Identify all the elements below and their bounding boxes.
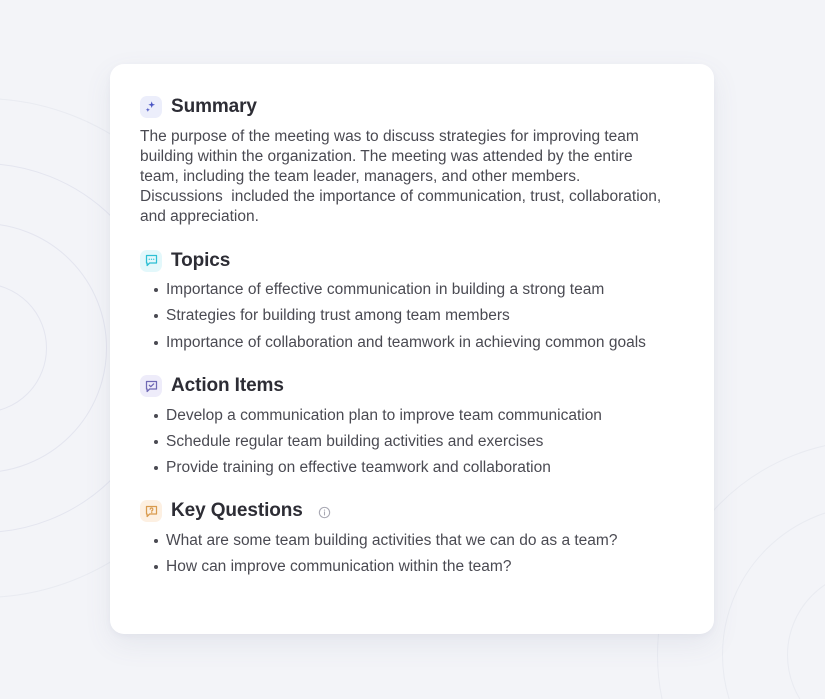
section-key-questions: Key Questions What are some team buildin… xyxy=(140,500,684,577)
section-title: Key Questions xyxy=(171,500,303,523)
section-title: Action Items xyxy=(171,375,284,398)
action-items-header: Action Items xyxy=(140,375,684,398)
speech-bubble-check-icon xyxy=(140,375,162,397)
list-item: Importance of collaboration and teamwork… xyxy=(140,333,670,353)
decorative-ring xyxy=(722,505,825,699)
action-items-list: Develop a communication plan to improve … xyxy=(140,406,684,478)
speech-bubble-question-icon xyxy=(140,500,162,522)
key-questions-header: Key Questions xyxy=(140,500,684,523)
decorative-ring xyxy=(0,283,47,413)
list-item: Importance of effective communication in… xyxy=(140,280,670,300)
key-questions-list: What are some team building activities t… xyxy=(140,531,684,577)
decorative-ring xyxy=(787,570,825,699)
info-circle-icon[interactable] xyxy=(318,506,331,519)
summary-body: The purpose of the meeting was to discus… xyxy=(140,127,665,228)
list-item: Provide training on effective teamwork a… xyxy=(140,458,670,478)
decorative-ring xyxy=(0,223,107,473)
topics-list: Importance of effective communication in… xyxy=(140,280,684,352)
section-title: Summary xyxy=(171,96,257,119)
speech-bubble-dots-icon xyxy=(140,250,162,272)
section-title: Topics xyxy=(171,250,230,273)
list-item: How can improve communication within the… xyxy=(140,557,670,577)
section-topics: Topics Importance of effective communica… xyxy=(140,250,684,353)
section-action-items: Action Items Develop a communication pla… xyxy=(140,375,684,478)
topics-header: Topics xyxy=(140,250,684,273)
list-item: Schedule regular team building activitie… xyxy=(140,432,670,452)
list-item: Strategies for building trust among team… xyxy=(140,306,670,326)
section-summary: Summary The purpose of the meeting was t… xyxy=(140,96,684,228)
list-item: Develop a communication plan to improve … xyxy=(140,406,670,426)
sparkle-icon xyxy=(140,96,162,118)
list-item: What are some team building activities t… xyxy=(140,531,670,551)
meeting-notes-card: Summary The purpose of the meeting was t… xyxy=(110,64,714,634)
summary-header: Summary xyxy=(140,96,684,119)
